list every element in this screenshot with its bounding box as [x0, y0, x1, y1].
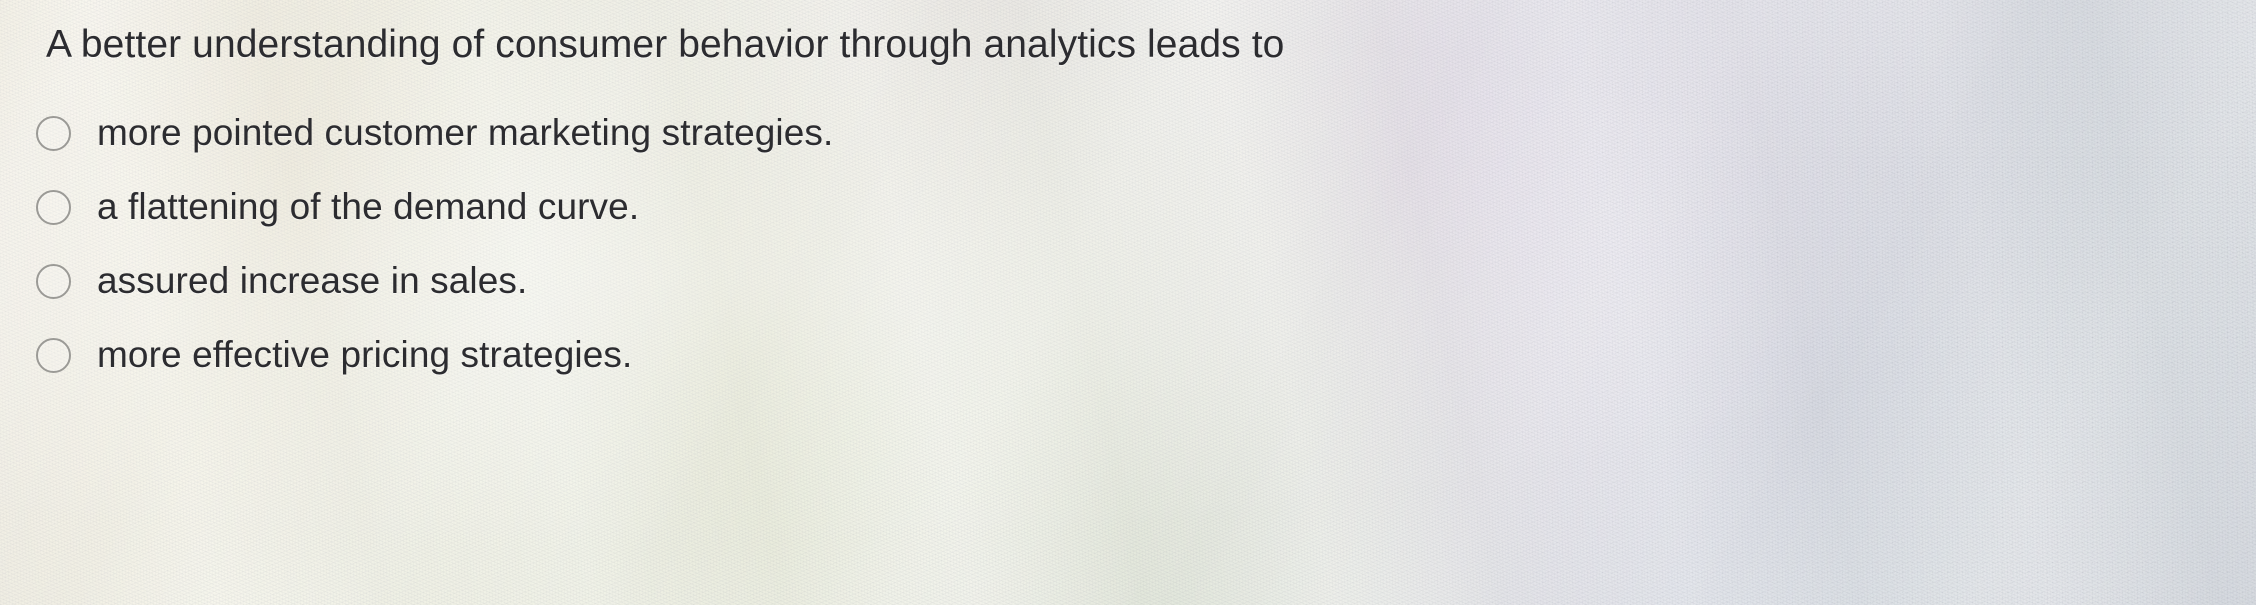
answer-option-b[interactable]: a flattening of the demand curve. [0, 170, 2256, 244]
answer-option-a-label[interactable]: more pointed customer marketing strategi… [97, 112, 833, 155]
answer-option-c-label[interactable]: assured increase in sales. [97, 260, 527, 303]
answer-options-list: more pointed customer marketing strategi… [0, 96, 2256, 392]
answer-option-b-label[interactable]: a flattening of the demand curve. [97, 186, 639, 229]
answer-option-a[interactable]: more pointed customer marketing strategi… [0, 96, 2256, 170]
radio-button-a[interactable] [36, 116, 71, 151]
answer-option-d-label[interactable]: more effective pricing strategies. [97, 334, 632, 377]
answer-option-c[interactable]: assured increase in sales. [0, 244, 2256, 318]
radio-button-c[interactable] [36, 264, 71, 299]
answer-option-d[interactable]: more effective pricing strategies. [0, 318, 2256, 392]
question-screen: A better understanding of consumer behav… [0, 0, 2256, 605]
question-stem: A better understanding of consumer behav… [46, 23, 1284, 68]
radio-button-d[interactable] [36, 338, 71, 373]
radio-button-b[interactable] [36, 190, 71, 225]
